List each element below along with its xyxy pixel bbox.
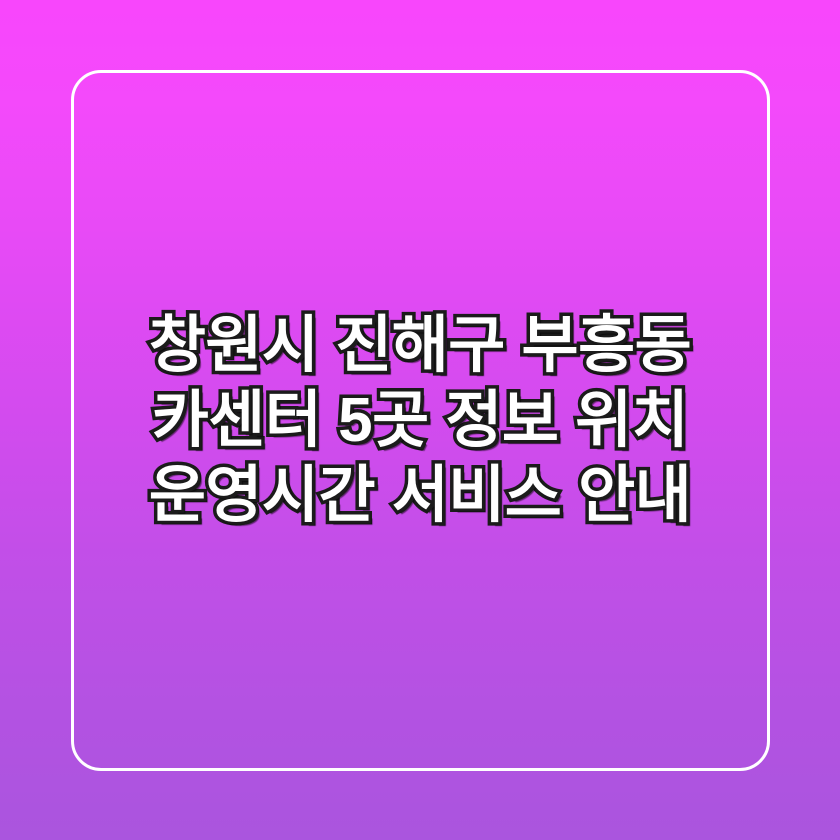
headline-line-1: 창원시 진해구 부흥동 [149,308,691,383]
poster-canvas: 창원시 진해구 부흥동 카센터 5곳 정보 위치 운영시간 서비스 안내 [0,0,840,840]
headline-line-2: 카센터 5곳 정보 위치 [152,383,688,458]
headline-block: 창원시 진해구 부흥동 카센터 5곳 정보 위치 운영시간 서비스 안내 [0,0,840,840]
headline-line-3: 운영시간 서비스 안내 [149,458,691,533]
